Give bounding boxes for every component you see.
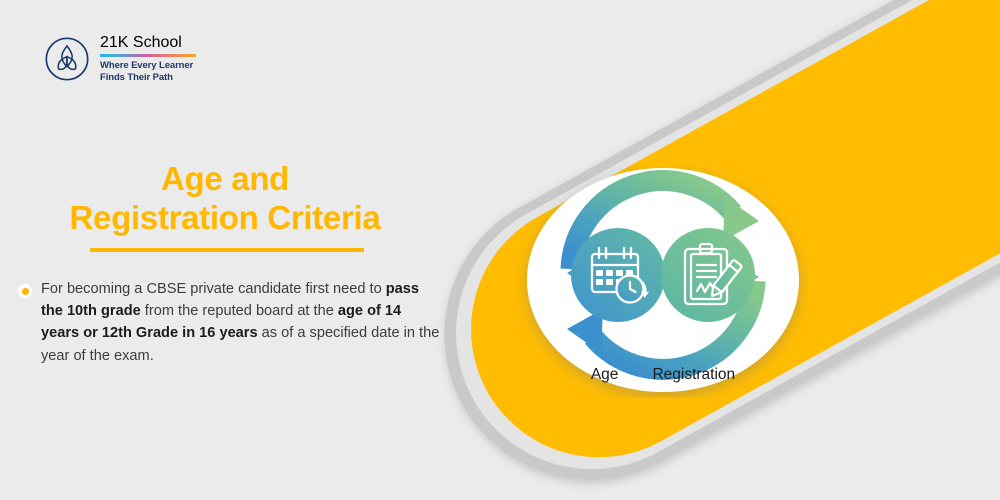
bullet-item: For becoming a CBSE private candidate fi… — [18, 278, 442, 367]
clipboard-pencil-icon — [661, 228, 755, 322]
page-title-line1: Age and — [20, 160, 430, 199]
logo-gradient-rule — [100, 54, 196, 57]
title-underline — [90, 248, 364, 252]
badge-label-age: Age — [591, 366, 619, 384]
bullet-text: For becoming a CBSE private candidate fi… — [41, 278, 442, 367]
logo-text-block: 21K School Where Every Learner Finds The… — [100, 34, 196, 84]
logo-tagline: Where Every Learner Finds Their Path — [100, 60, 196, 85]
logo-tagline-line1: Where Every Learner — [100, 60, 196, 72]
dot-bullet-icon — [18, 284, 32, 298]
calendar-clock-icon — [571, 228, 665, 322]
infographic-canvas: 21K School Where Every Learner Finds The… — [0, 0, 1000, 500]
brand-logo[interactable]: 21K School Where Every Learner Finds The… — [44, 34, 196, 84]
page-title: Age and Registration Criteria — [20, 160, 430, 238]
bullet-text-plain: For becoming a CBSE private candidate fi… — [41, 281, 386, 297]
lotus-circle-logo-icon — [44, 36, 90, 82]
logo-title: 21K School — [100, 34, 196, 52]
bullet-text-plain: from the reputed board at the — [141, 303, 338, 319]
logo-tagline-line2: Finds Their Path — [100, 72, 196, 84]
age-registration-badge — [515, 167, 811, 398]
badge-label-row: Age Registration — [515, 366, 811, 384]
page-title-line2: Registration Criteria — [20, 199, 430, 238]
badge-label-registration: Registration — [652, 366, 735, 384]
